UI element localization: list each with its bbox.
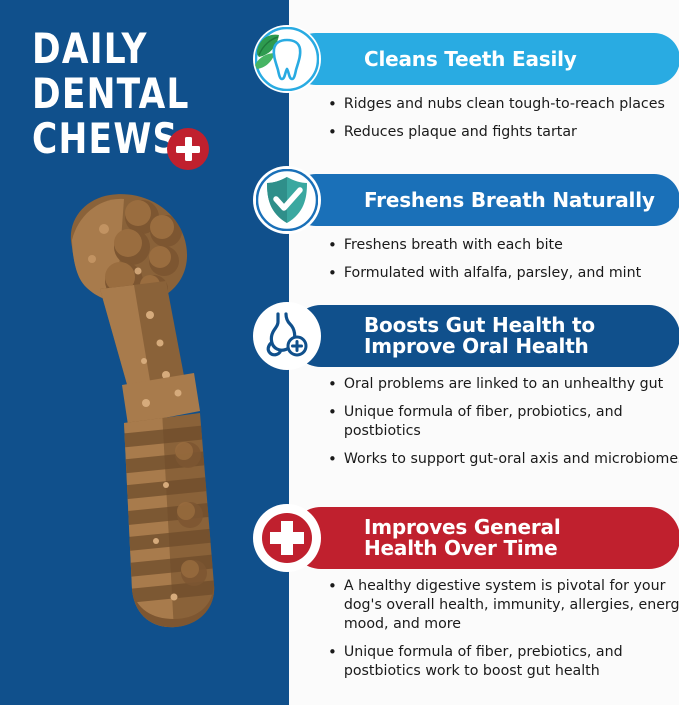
- bullet-text: Works to support gut-oral axis and micro…: [344, 450, 679, 469]
- bullet-marker: •: [328, 95, 337, 114]
- chew-svg: [38, 185, 258, 655]
- infographic-poster: DAILY DENTAL CHEWS: [0, 0, 679, 705]
- section-title: Cleans Teeth Easily: [364, 49, 577, 70]
- list-item: • Freshens breath with each bite: [328, 236, 679, 255]
- bullet-text: Ridges and nubs clean tough-to-reach pla…: [344, 95, 679, 114]
- medical-cross-icon: [167, 128, 209, 170]
- bullet-text: Formulated with alfalfa, parsley, and mi…: [344, 264, 679, 283]
- section-banner: Freshens Breath Naturally: [290, 174, 679, 226]
- list-item: • Oral problems are linked to an unhealt…: [328, 375, 679, 394]
- section-bullets: • Freshens breath with each bite • Formu…: [328, 236, 679, 292]
- title-line-1: DAILY: [32, 26, 221, 71]
- list-item: • A healthy digestive system is pivotal …: [328, 577, 679, 634]
- bullet-marker: •: [328, 375, 337, 394]
- bullet-text: Reduces plaque and fights tartar: [344, 123, 679, 142]
- cross-bar-vertical: [185, 137, 192, 161]
- list-item: • Unique formula of fiber, probiotics, a…: [328, 403, 679, 441]
- list-item: • Formulated with alfalfa, parsley, and …: [328, 264, 679, 283]
- bullet-marker: •: [328, 643, 337, 662]
- list-item: • Works to support gut-oral axis and mic…: [328, 450, 679, 469]
- section-bullets: • A healthy digestive system is pivotal …: [328, 577, 679, 690]
- section-title: Improves General Health Over Time: [364, 517, 560, 559]
- section-banner: Improves General Health Over Time: [290, 507, 679, 569]
- title-line-2: DENTAL: [32, 71, 221, 116]
- bullet-text: Oral problems are linked to an unhealthy…: [344, 375, 679, 394]
- list-item: • Unique formula of fiber, prebiotics, a…: [328, 643, 679, 681]
- section-banner: Cleans Teeth Easily: [290, 33, 679, 85]
- medical-cross-icon: [253, 504, 321, 572]
- bullet-text: Unique formula of fiber, probiotics, and…: [344, 403, 679, 441]
- stomach-plus-icon: [253, 302, 321, 370]
- list-item: • Ridges and nubs clean tough-to-reach p…: [328, 95, 679, 114]
- shield-check-icon: [253, 166, 321, 234]
- section-title: Freshens Breath Naturally: [364, 190, 655, 211]
- bullet-text: Freshens breath with each bite: [344, 236, 679, 255]
- bullet-marker: •: [328, 577, 337, 596]
- bullet-text: A healthy digestive system is pivotal fo…: [344, 577, 679, 634]
- bullet-marker: •: [328, 450, 337, 469]
- section-title: Boosts Gut Health to Improve Oral Health: [364, 315, 595, 357]
- bullet-text: Unique formula of fiber, prebiotics, and…: [344, 643, 679, 681]
- tooth-mint-icon: [253, 25, 321, 93]
- page-title: DAILY DENTAL CHEWS: [32, 26, 262, 161]
- dental-chew-illustration: [38, 185, 258, 655]
- bullet-marker: •: [328, 264, 337, 283]
- section-bullets: • Oral problems are linked to an unhealt…: [328, 375, 679, 478]
- list-item: • Reduces plaque and fights tartar: [328, 123, 679, 142]
- bullet-marker: •: [328, 236, 337, 255]
- section-bullets: • Ridges and nubs clean tough-to-reach p…: [328, 95, 679, 151]
- bullet-marker: •: [328, 403, 337, 422]
- section-banner: Boosts Gut Health to Improve Oral Health: [290, 305, 679, 367]
- tooth-shape: [274, 40, 300, 79]
- bullet-marker: •: [328, 123, 337, 142]
